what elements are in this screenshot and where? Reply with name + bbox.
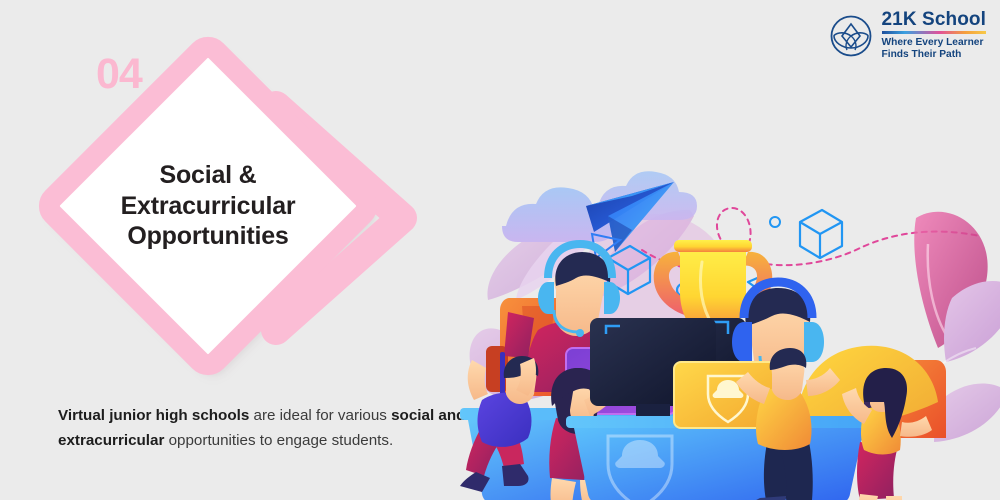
title-diamond-group: Social & Extracurricular Opportunities bbox=[60, 68, 430, 368]
caption-segment-3: opportunities to engage students. bbox=[164, 432, 393, 449]
slide-canvas: 21K School Where Every Learner Finds The… bbox=[0, 0, 1000, 500]
caption-segment-0: Virtual junior high schools bbox=[58, 407, 249, 424]
page-title: Social & Extracurricular Opportunities bbox=[82, 80, 334, 332]
circle-outline-small bbox=[770, 217, 780, 227]
wireframe-cube-right bbox=[800, 210, 842, 258]
caption-segment-1: are ideal for various bbox=[249, 407, 391, 424]
esports-gaming-teamwork-illustration bbox=[460, 0, 1000, 500]
caption-text: Virtual junior high schools are ideal fo… bbox=[58, 404, 478, 453]
